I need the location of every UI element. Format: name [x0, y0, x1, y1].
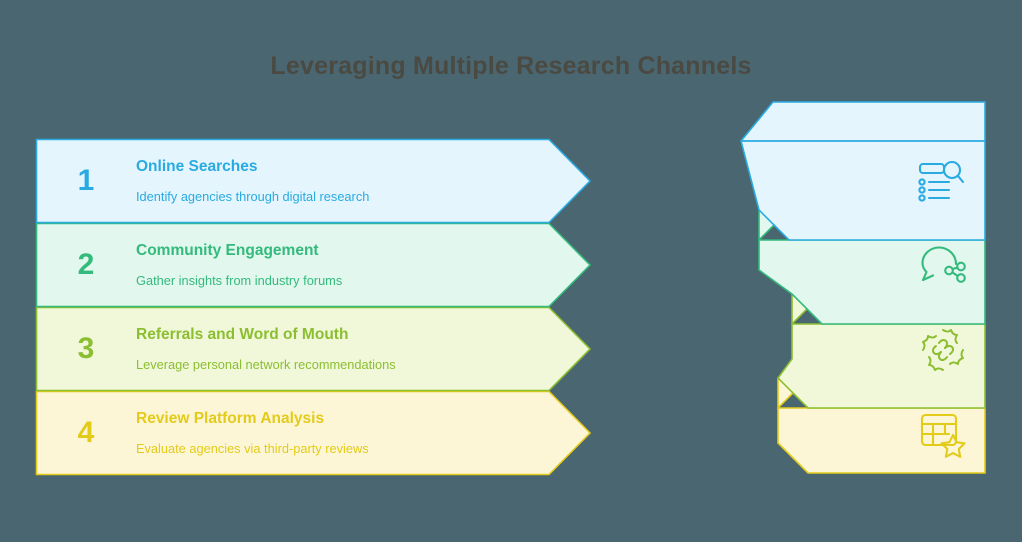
step-text: Online Searches Identify agencies throug… [136, 158, 556, 204]
step-row-2[interactable]: 2 Community Engagement Gather insights f… [36, 223, 592, 307]
step-title: Review Platform Analysis [136, 410, 546, 429]
step-title: Community Engagement [136, 242, 546, 261]
steps-list: 1 Online Searches Identify agencies thro… [36, 139, 592, 475]
step-number: 2 [36, 250, 136, 280]
page-title: Leveraging Multiple Research Channels [0, 52, 1022, 81]
step-row-4[interactable]: 4 Review Platform Analysis Evaluate agen… [36, 391, 592, 475]
step-title: Online Searches [136, 158, 546, 177]
rating-table-star-icon [919, 410, 965, 456]
step-title: Referrals and Word of Mouth [136, 326, 546, 345]
step-description: Leverage personal network recommendation… [136, 357, 546, 372]
step-content-3: 3 Referrals and Word of Mouth Leverage p… [36, 307, 556, 391]
step-description: Gather insights from industry forums [136, 273, 546, 288]
step-text: Referrals and Word of Mouth Leverage per… [136, 326, 556, 372]
step-number: 3 [36, 334, 136, 364]
step-content-1: 1 Online Searches Identify agencies thro… [36, 139, 556, 223]
ribbon-panel [737, 100, 989, 475]
step-text: Review Platform Analysis Evaluate agenci… [136, 410, 556, 456]
step-content-4: 4 Review Platform Analysis Evaluate agen… [36, 391, 556, 475]
step-row-1[interactable]: 1 Online Searches Identify agencies thro… [36, 139, 592, 223]
step-text: Community Engagement Gather insights fro… [136, 242, 556, 288]
step-description: Identify agencies through digital resear… [136, 189, 546, 204]
step-row-3[interactable]: 3 Referrals and Word of Mouth Leverage p… [36, 307, 592, 391]
helping-hands-icon [919, 326, 965, 372]
speech-bubble-share-icon [919, 242, 965, 288]
step-number: 1 [36, 166, 136, 196]
step-content-2: 2 Community Engagement Gather insights f… [36, 223, 556, 307]
list-search-icon [917, 157, 963, 203]
step-description: Evaluate agencies via third-party review… [136, 441, 546, 456]
step-number: 4 [36, 418, 136, 448]
